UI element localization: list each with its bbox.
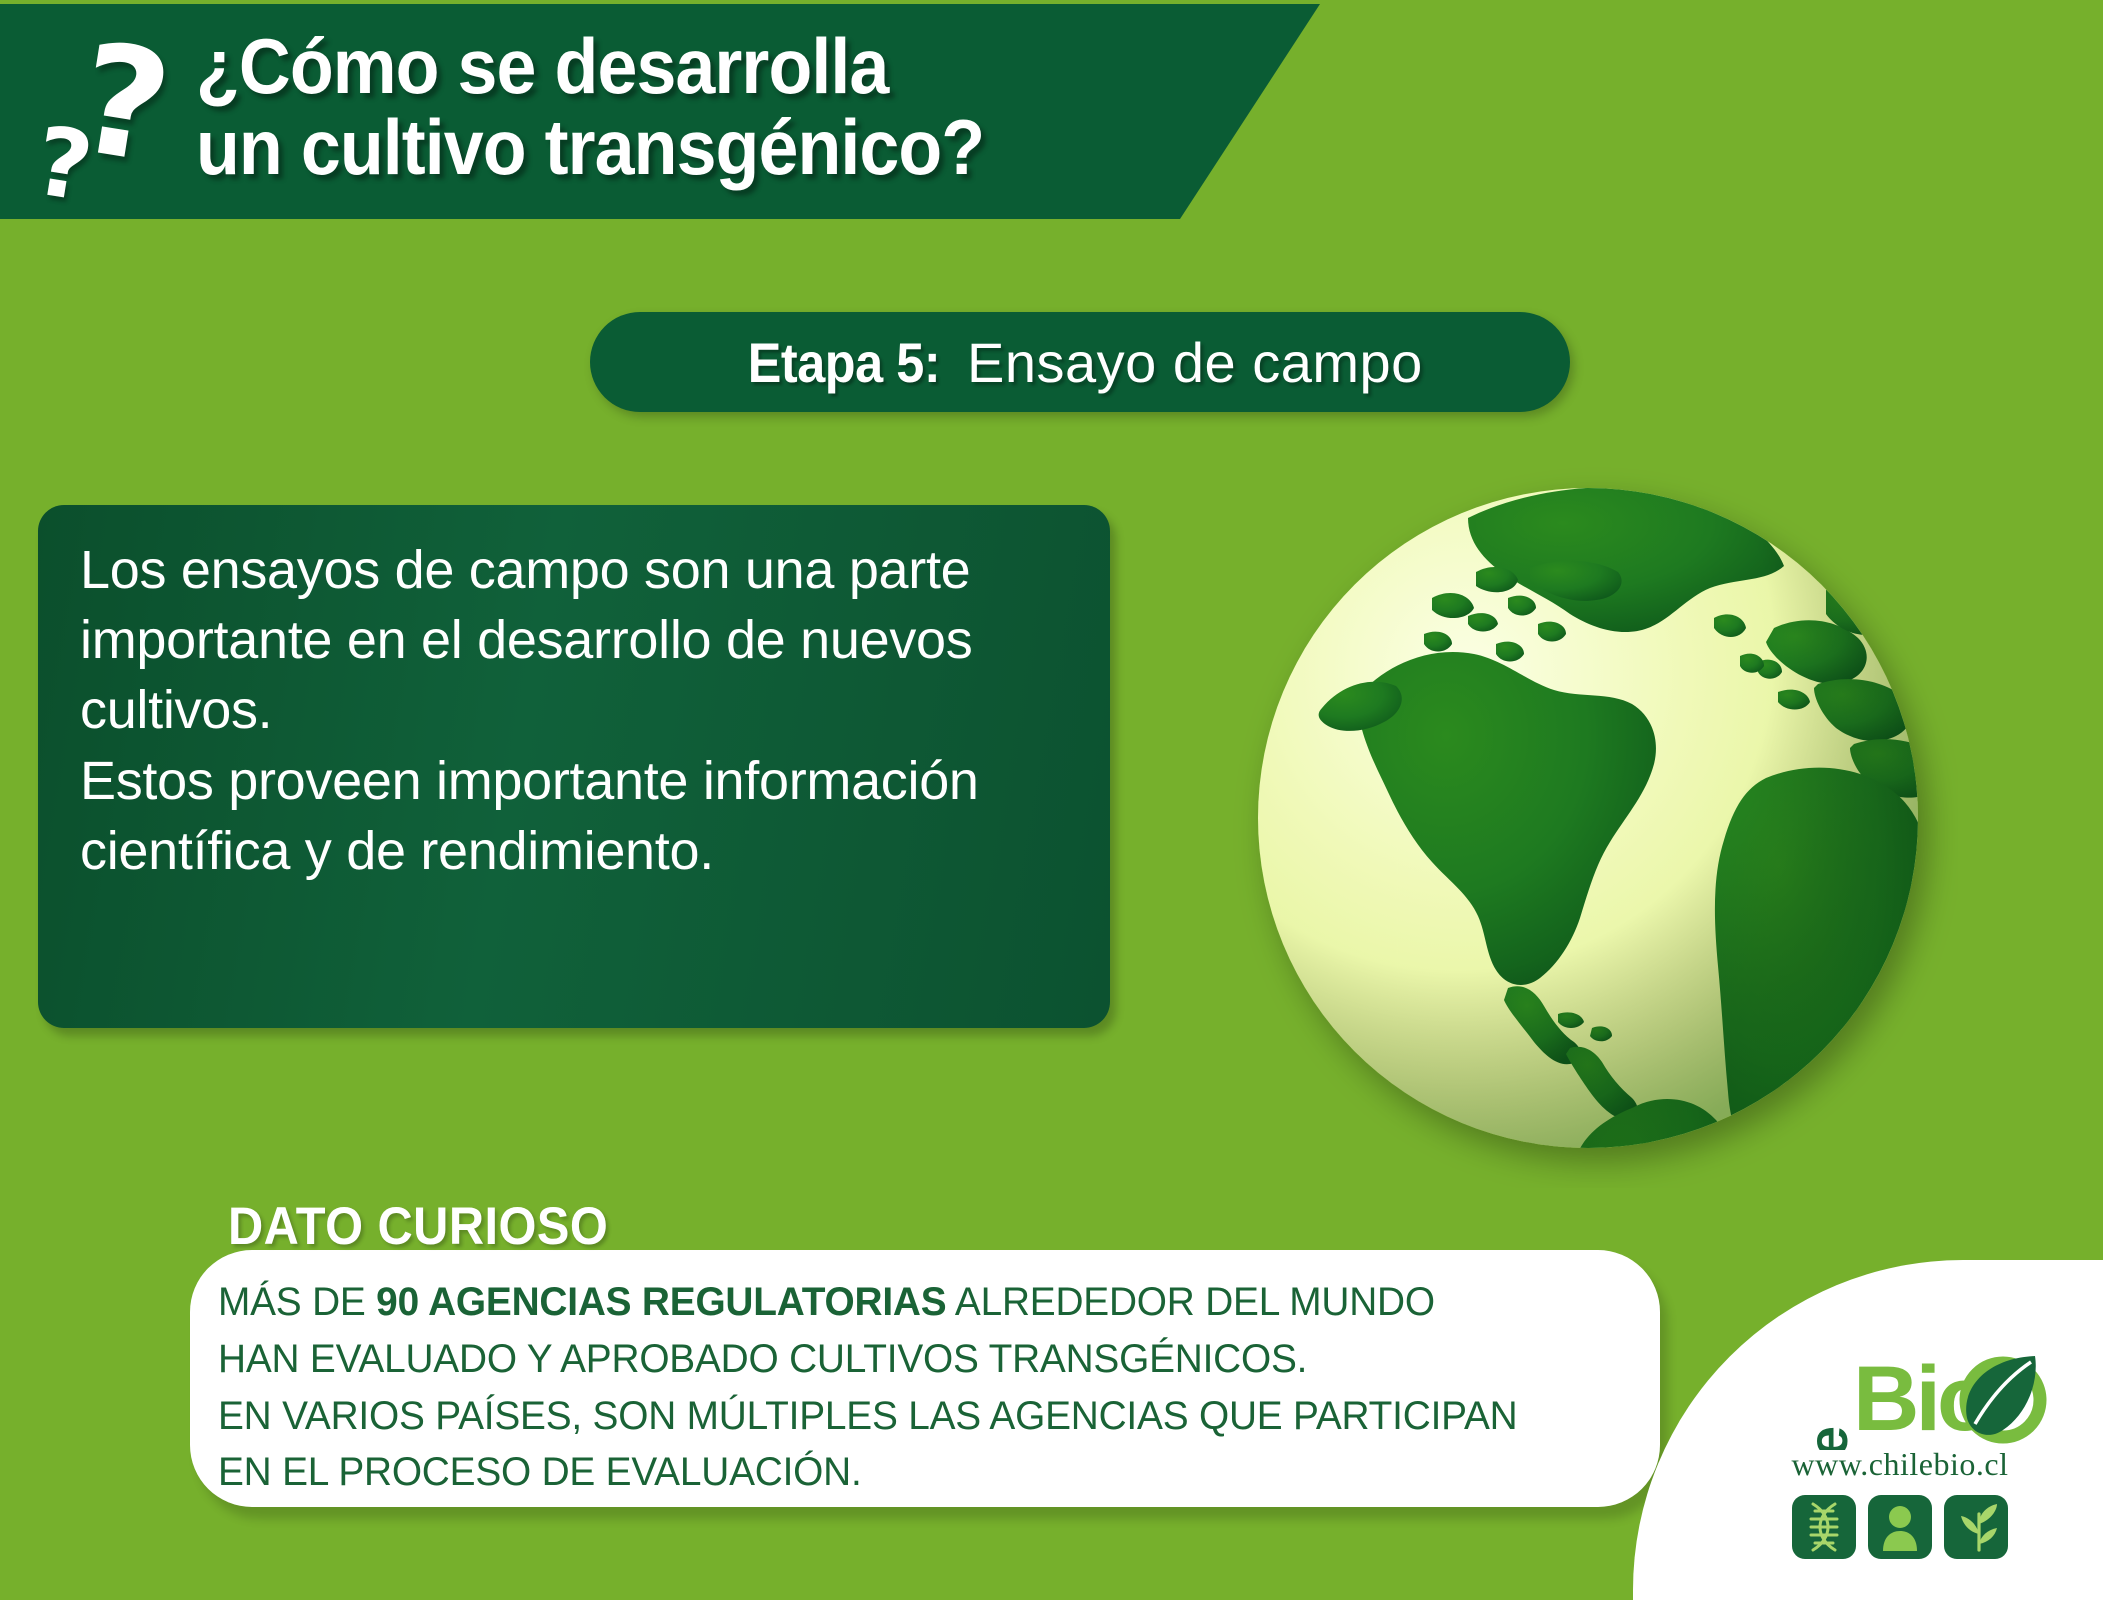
fun-fact-line1-bold: 90 AGENCIAS REGULATORIAS bbox=[376, 1280, 946, 1324]
fun-fact-heading: DATO CURIOSO bbox=[228, 1196, 608, 1257]
person-icon bbox=[1867, 1494, 1933, 1560]
plant-seedling-icon bbox=[1943, 1494, 2009, 1560]
fun-fact-line1-prefix: MÁS DE bbox=[218, 1280, 376, 1324]
stage-badge: Etapa 5: Ensayo de campo bbox=[590, 312, 1570, 412]
stage-name-label: Ensayo de campo bbox=[967, 330, 1423, 395]
fun-fact-panel: MÁS DE 90 AGENCIAS REGULATORIAS ALREDEDO… bbox=[190, 1250, 1660, 1507]
logo-website-url[interactable]: www.chilebio.cl bbox=[1735, 1446, 2065, 1483]
description-text: Los ensayos de campo son una parte impor… bbox=[80, 535, 1068, 886]
question-mark-small-icon: ? bbox=[29, 114, 98, 216]
stage-number-label: Etapa 5: bbox=[748, 330, 940, 395]
logo-wordmark: Chile Bio bbox=[1796, 1348, 2040, 1450]
question-marks-decoration: ? ? bbox=[18, 28, 218, 208]
globe-earth-illustration bbox=[1218, 448, 1958, 1188]
chilebio-logo[interactable]: Chile Bio www.chilebio.cl bbox=[1735, 1322, 2065, 1578]
fun-fact-line-2: HAN EVALUADO Y APROBADO CULTIVOS TRANSGÉ… bbox=[218, 1331, 1617, 1388]
fun-fact-line-4: EN EL PROCESO DE EVALUACIÓN. bbox=[218, 1444, 1617, 1501]
fun-fact-line-1: MÁS DE 90 AGENCIAS REGULATORIAS ALREDEDO… bbox=[218, 1274, 1617, 1331]
fun-fact-line-3: EN VARIOS PAÍSES, SON MÚLTIPLES LAS AGEN… bbox=[218, 1388, 1617, 1445]
logo-icon-tiles bbox=[1735, 1494, 2065, 1560]
page-title: ¿Cómo se desarrolla un cultivo transgéni… bbox=[196, 26, 1171, 188]
infographic-canvas: ? ? ¿Cómo se desarrolla un cultivo trans… bbox=[0, 0, 2103, 1600]
fun-fact-line1-suffix: ALREDEDOR DEL MUNDO bbox=[946, 1280, 1434, 1324]
dna-helix-icon bbox=[1791, 1494, 1857, 1560]
description-panel: Los ensayos de campo son una parte impor… bbox=[38, 505, 1110, 1028]
